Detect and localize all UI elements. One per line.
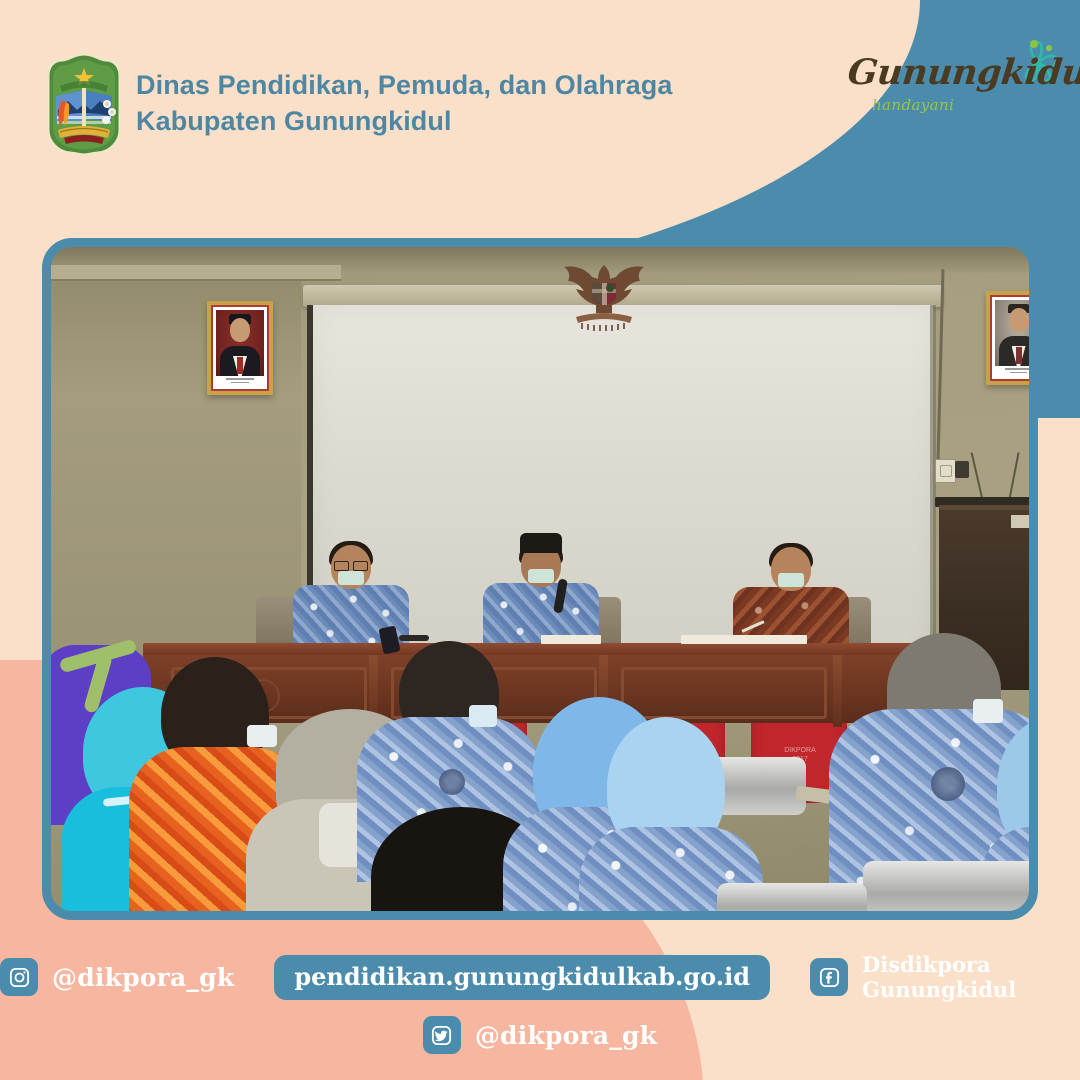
power-plug — [955, 461, 969, 478]
screen-edge-right — [930, 305, 936, 665]
poster-canvas: Dinas Pendidikan, Pemuda, dan Olahraga K… — [0, 0, 1080, 1080]
facebook-icon[interactable] — [810, 958, 848, 996]
social-footer: @dikpora_gk pendidikan.gunungkidulkab.go… — [0, 952, 1080, 1054]
document-papers — [681, 635, 753, 644]
twitter-handle[interactable]: @dikpora_gk — [475, 1021, 657, 1050]
brand-tagline: handayani — [872, 96, 954, 114]
desk-microphone — [399, 635, 429, 641]
gunungkidul-brand-logo: Gunungkidul handayani — [848, 38, 1068, 133]
garuda-pancasila-emblem — [546, 259, 662, 337]
vice-president-portrait-frame — [986, 291, 1029, 385]
instagram-handle[interactable]: @dikpora_gk — [52, 963, 234, 992]
website-url-badge[interactable]: pendidikan.gunungkidulkab.go.id — [274, 955, 770, 1000]
document-papers — [541, 635, 601, 644]
social-row-primary: @dikpora_gk pendidikan.gunungkidulkab.go… — [0, 952, 1080, 1002]
page-title: Dinas Pendidikan, Pemuda, dan Olahraga K… — [136, 68, 672, 139]
chair-chrome-frame — [863, 861, 1029, 911]
regency-crest-icon — [44, 52, 124, 156]
table-leg — [833, 655, 842, 727]
twitter-icon[interactable] — [423, 1016, 461, 1054]
title-line-1: Dinas Pendidikan, Pemuda, dan Olahraga — [136, 68, 672, 104]
document-papers — [751, 635, 807, 644]
event-photo-card: DIKPORA 2017 — [42, 238, 1038, 920]
brand-wordmark: Gunungkidul — [846, 52, 1050, 93]
table-panel-carving — [621, 667, 827, 719]
ceiling-moulding — [51, 265, 341, 281]
wall-outlet-icon — [935, 459, 956, 483]
chair-chrome-frame — [717, 883, 867, 911]
president-portrait-frame — [207, 301, 273, 395]
poster-header: Dinas Pendidikan, Pemuda, dan Olahraga K… — [0, 0, 1080, 200]
event-photo: DIKPORA 2017 — [51, 247, 1029, 911]
instagram-icon[interactable] — [0, 958, 38, 996]
title-line-2: Kabupaten Gunungkidul — [136, 104, 672, 140]
social-row-secondary: @dikpora_gk — [0, 1016, 1080, 1054]
cabinet-label — [1011, 515, 1029, 528]
facebook-page-name[interactable]: Disdikpora Gunungkidul — [862, 952, 1080, 1002]
